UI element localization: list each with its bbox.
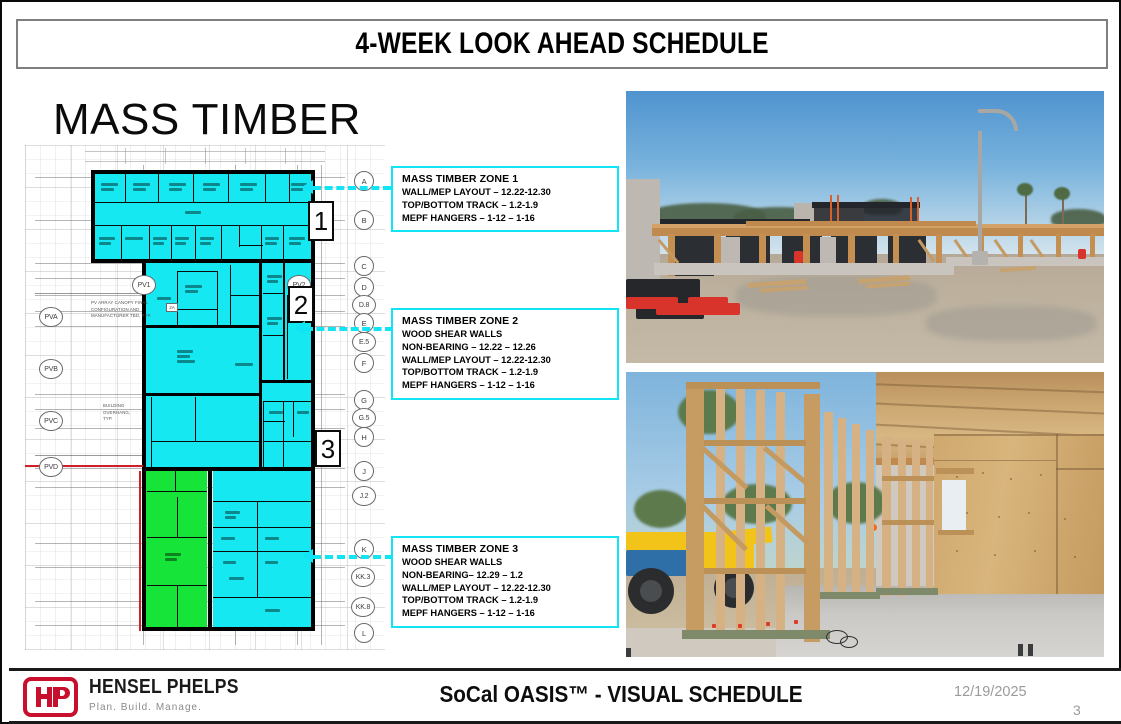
plywood-seam [1056, 434, 1058, 594]
room-label [240, 188, 253, 191]
floor-clamp [626, 648, 631, 657]
grid-bubble-f: F [354, 353, 374, 373]
callout-zone-3-line: WOOD SHEAR WALLS [402, 556, 609, 569]
interior-partition [195, 225, 196, 261]
grid-bubble-kk8: KK.8 [351, 597, 375, 617]
wall-stud [912, 440, 920, 592]
plywood-seam [934, 460, 1056, 461]
wall-stud [866, 430, 874, 596]
interior-partition [293, 401, 294, 437]
zone-marker-2: 2 [288, 286, 314, 323]
interior-partition [213, 597, 313, 598]
callout-zone-1-heading: MASS TIMBER ZONE 1 [402, 173, 609, 185]
callout-zone-2-line: MEPF HANGERS – 1-12 – 1-16 [402, 379, 609, 392]
interior-partition [177, 309, 218, 310]
grid-bubble-pva: PVA [39, 307, 63, 327]
room-label [177, 355, 190, 358]
interior-partition [263, 441, 313, 442]
canopy-outline [35, 455, 143, 456]
room-label [185, 211, 201, 214]
room-label [153, 242, 164, 245]
exterior-wall [142, 471, 146, 631]
anchor-cap [794, 620, 798, 624]
room-label [221, 537, 235, 540]
safety-barrier [794, 251, 803, 263]
interior-partition [221, 225, 222, 261]
interior-partition [217, 271, 218, 325]
callout-zone-3-heading: MASS TIMBER ZONE 3 [402, 543, 609, 555]
zone-3-leader-line [313, 555, 393, 559]
callout-zone-2: MASS TIMBER ZONE 2 WOOD SHEAR WALLS NON-… [391, 308, 619, 400]
interior-partition [239, 245, 263, 246]
callout-zone-1: MASS TIMBER ZONE 1 WALL/MEP LAYOUT – 12.… [391, 166, 619, 232]
callout-zone-3-line: TOP/BOTTOM TRACK – 1.2-1.9 [402, 594, 609, 607]
plan-note-overhang: BUILDING OVERHANG, TYP. [103, 403, 143, 423]
room-label [203, 183, 220, 186]
interior-wall [259, 380, 315, 383]
interior-partition [263, 421, 285, 422]
room-label [297, 411, 309, 414]
zone-1-leader-arrow [302, 180, 313, 194]
room-label [203, 188, 216, 191]
grid-bubble-d8: D.8 [352, 295, 376, 315]
top-plate [686, 382, 820, 389]
anchor-cap [738, 624, 742, 628]
room-label [225, 516, 236, 519]
window-header [936, 468, 974, 474]
room-label [125, 237, 143, 240]
room-label [265, 561, 278, 564]
slide-title: 4-WEEK LOOK AHEAD SCHEDULE [355, 27, 768, 61]
room-label [289, 237, 305, 240]
room-label [101, 183, 118, 186]
wall-stud [824, 412, 833, 596]
grid-bubble-pvc: PVC [39, 411, 63, 431]
floor-clamp [1018, 644, 1023, 656]
slide-title-box: 4-WEEK LOOK AHEAD SCHEDULE [16, 19, 1108, 69]
interior-partition [177, 271, 218, 272]
room-label [267, 322, 278, 325]
room-label [235, 363, 253, 366]
zone-marker-1: 1 [308, 201, 334, 241]
grid-bubble-g: G [354, 390, 374, 410]
interior-partition [230, 295, 260, 296]
anchor-cap [712, 624, 716, 628]
callout-zone-2-heading: MASS TIMBER ZONE 2 [402, 315, 609, 327]
nail-head [994, 554, 996, 556]
room-label [200, 237, 214, 240]
plan-title: MASS TIMBER [53, 95, 361, 145]
interior-partition [257, 501, 258, 597]
safety-barrier [688, 297, 728, 307]
interior-partition [177, 497, 178, 537]
zone-3-leader-arrow [302, 549, 313, 563]
room-label [265, 237, 279, 240]
dimension-tick [285, 148, 286, 164]
room-label [169, 183, 186, 186]
callout-zone-1-line: MEPF HANGERS – 1-12 – 1-16 [402, 212, 609, 225]
room-label [267, 317, 282, 320]
slide-frame: 4-WEEK LOOK AHEAD SCHEDULE MASS TIMBER [0, 0, 1121, 724]
sill-plate [682, 630, 830, 639]
room-label [175, 237, 189, 240]
callout-zone-1-line: WALL/MEP LAYOUT – 12.22-12.30 [402, 186, 609, 199]
slide-canvas: 4-WEEK LOOK AHEAD SCHEDULE MASS TIMBER [5, 5, 1116, 719]
nail-head [1010, 478, 1012, 480]
interior-partition [175, 471, 176, 491]
grid-bubble-d: D [354, 277, 374, 297]
wall-stud [898, 438, 906, 596]
interior-partition [171, 225, 172, 261]
floor-clamp [1028, 644, 1033, 656]
room-label [185, 285, 202, 288]
wall-blocking [882, 520, 934, 525]
interior-wall [142, 325, 262, 328]
room-label [267, 280, 278, 283]
nail-head [1034, 550, 1036, 552]
exterior-wall [142, 627, 315, 631]
street-light-pole [978, 131, 982, 261]
dimension-tick [205, 148, 206, 164]
callout-zone-2-line: WOOD SHEAR WALLS [402, 328, 609, 341]
nail-head [956, 550, 958, 552]
callout-zone-1-line: TOP/BOTTOM TRACK – 1.2-1.9 [402, 199, 609, 212]
room-label [265, 537, 279, 540]
nail-head [1074, 556, 1076, 558]
wall-stud [736, 388, 745, 630]
nail-head [1040, 474, 1042, 476]
wall-blocking [704, 498, 806, 504]
interior-wall [259, 261, 262, 471]
plan-note-pv-array: PV ARRAY CANOPY FINAL CONFIGURATION AND … [91, 300, 165, 320]
room-label [133, 183, 150, 186]
callout-zone-3-line: NON-BEARING– 12.29 – 1.2 [402, 569, 609, 582]
room-label [265, 609, 280, 612]
nail-head [966, 512, 968, 514]
interior-partition [213, 551, 313, 552]
callout-zone-2-line: TOP/BOTTOM TRACK – 1.2-1.9 [402, 366, 609, 379]
interior-partition [261, 225, 262, 261]
dimension-tick [245, 148, 246, 164]
logo-h-right-stem [47, 687, 52, 707]
project-title: SoCal OASIS™ - VISUAL SCHEDULE [369, 681, 873, 708]
room-label [185, 290, 198, 293]
room-label [265, 242, 277, 245]
grid-bubble-j: J [354, 461, 374, 481]
palm-fronds [1054, 187, 1070, 200]
zone-3-green-fill [145, 471, 207, 627]
wall-stud [852, 424, 860, 596]
interior-wall [283, 261, 285, 381]
interior-partition [263, 401, 313, 402]
property-line [139, 471, 141, 631]
room-label [223, 561, 236, 564]
photo-exterior [626, 91, 1104, 363]
room-label [240, 183, 257, 186]
sill-plate [876, 588, 938, 595]
room-label [99, 242, 111, 245]
interior-partition [151, 441, 259, 442]
plan-note-tag: 2A [166, 303, 178, 312]
wall-blocking [882, 476, 934, 481]
electrical-cable-coil [840, 636, 858, 648]
interior-partition [151, 397, 152, 467]
zone-2-leader-arrow [294, 321, 305, 335]
interior-partition [147, 537, 207, 538]
interior-partition [239, 225, 240, 247]
room-label [200, 242, 211, 245]
dimension-tick [165, 148, 166, 164]
room-label [165, 558, 177, 561]
ground-patch [926, 306, 1096, 341]
interior-partition [265, 173, 266, 203]
interior-partition [147, 491, 207, 492]
sill-plate [820, 592, 880, 599]
interior-partition [263, 401, 264, 467]
room-label [177, 350, 193, 353]
canopy-outline [35, 293, 143, 294]
zone-2-leader-line [305, 327, 393, 331]
zone-marker-3: 3 [315, 430, 341, 467]
wall-stud [716, 386, 725, 630]
anchor-cap [766, 622, 770, 626]
interior-partition [195, 397, 196, 441]
interior-partition [121, 225, 122, 261]
interior-partition [213, 527, 313, 528]
nail-head [982, 472, 984, 474]
room-label [175, 242, 186, 245]
interior-partition [213, 501, 313, 502]
interior-partition [177, 271, 178, 325]
interior-partition [283, 401, 284, 467]
wall-stud [756, 390, 765, 630]
interior-partition [93, 225, 313, 226]
exterior-wall [91, 170, 95, 263]
hensel-phelps-logo [23, 677, 78, 717]
nail-head [956, 476, 958, 478]
grid-bubble-j2: J.2 [352, 486, 376, 506]
room-label [133, 188, 146, 191]
callout-zone-3-line: MEPF HANGERS – 1-12 – 1-16 [402, 607, 609, 620]
callout-zone-3-line: WALL/MEP LAYOUT – 12.22-12.30 [402, 582, 609, 595]
room-label [269, 411, 283, 414]
room-label [99, 237, 115, 240]
slide-date: 12/19/2025 [954, 684, 1027, 700]
wall-stud [926, 442, 933, 590]
room-label [169, 188, 182, 191]
interior-partition [283, 225, 284, 261]
interior-partition [125, 173, 126, 203]
callout-zone-3: MASS TIMBER ZONE 3 WOOD SHEAR WALLS NON-… [391, 536, 619, 628]
brand-tagline: Plan. Build. Manage. [89, 701, 327, 713]
interior-partition [263, 293, 285, 294]
interior-partition [177, 585, 178, 627]
room-label [225, 511, 240, 514]
interior-partition [228, 173, 229, 203]
timber-fascia [746, 221, 976, 226]
wall-stud [838, 418, 846, 596]
grid-bubble-l: L [354, 623, 374, 643]
wall-blocking [704, 440, 806, 446]
wall-stud [882, 436, 891, 596]
grid-bubble-g5: G.5 [352, 408, 376, 428]
brand-name: HENSEL PHELPS [89, 676, 309, 699]
nail-head [998, 516, 1000, 518]
window-sill [938, 530, 974, 535]
interior-partition [193, 173, 194, 203]
tire-hub [640, 580, 662, 602]
interior-partition [149, 225, 150, 261]
callout-zone-2-line: WALL/MEP LAYOUT – 12.22-12.30 [402, 354, 609, 367]
wall-blocking [704, 568, 806, 574]
room-label [101, 188, 114, 191]
room-label [165, 553, 181, 556]
grid-bubble-pvd: PVD [39, 457, 63, 477]
timber-post [804, 394, 820, 642]
grid-bubble-c: C [354, 256, 374, 276]
zone-3-cyan-fill [213, 471, 313, 627]
grid-bubble-kk3: KK.3 [351, 567, 375, 587]
window-opening [942, 480, 966, 534]
zone-1-leader-line [313, 186, 391, 190]
nail-head [1028, 512, 1030, 514]
interior-partition [158, 173, 159, 203]
page-number: 3 [1073, 702, 1081, 718]
interior-wall [208, 471, 212, 631]
safety-barrier [1078, 249, 1086, 259]
interior-partition [263, 335, 285, 336]
plywood-seam [934, 434, 1104, 436]
room-label [267, 275, 282, 278]
room-label [153, 237, 167, 240]
room-label [229, 577, 244, 580]
room-label [177, 360, 195, 363]
tree [634, 490, 688, 528]
logo-frame [23, 677, 78, 717]
concrete-curb [654, 263, 954, 275]
grid-bubble-b: B [354, 210, 374, 230]
plywood-seam [1056, 468, 1104, 470]
room-label [289, 242, 301, 245]
wall-stud [776, 392, 785, 630]
palm-fronds [1017, 183, 1033, 196]
nail-head [1064, 518, 1066, 520]
street-light-base [972, 251, 988, 265]
grid-bubble-h: H [354, 427, 374, 447]
grid-bubble-pv1: PV1 [132, 275, 156, 295]
callout-zone-2-line: NON-BEARING – 12.22 – 12.26 [402, 341, 609, 354]
grid-bubble-pvb: PVB [39, 359, 63, 379]
dimension-tick [125, 148, 126, 164]
grid-bubble-e5: E.5 [352, 332, 376, 352]
brand-block: HENSEL PHELPS Plan. Build. Manage. [89, 676, 339, 713]
interior-wall [142, 393, 262, 396]
photo-interior [626, 372, 1104, 657]
